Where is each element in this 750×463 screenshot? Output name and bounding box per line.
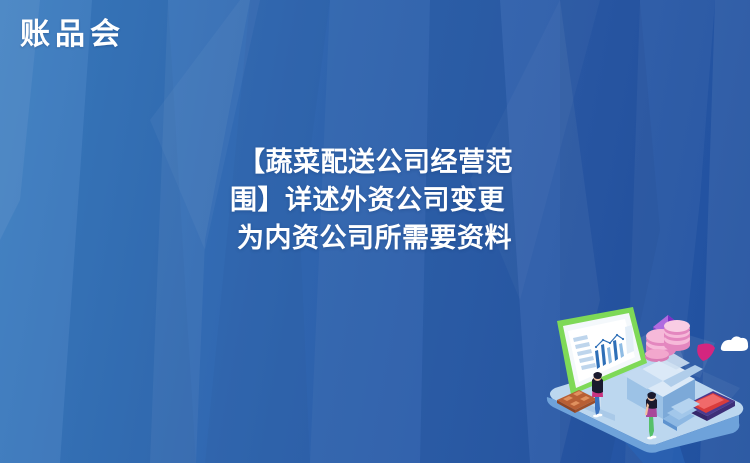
site-logo[interactable]: 账品会 bbox=[14, 18, 131, 52]
promo-banner: 账品会 【蔬菜配送公司经营范 围】详述外资公司变更 为内资公司所需要资料 bbox=[0, 0, 750, 463]
headline-line-3: 为内资公司所需要资料 bbox=[237, 219, 528, 257]
headline-line-2: 围】详述外资公司变更 bbox=[230, 181, 528, 219]
business-illustration bbox=[535, 303, 750, 463]
cloud-icon bbox=[721, 336, 748, 351]
headline-line-1: 【蔬菜配送公司经营范 bbox=[238, 143, 528, 181]
banner-headline: 【蔬菜配送公司经营范 围】详述外资公司变更 为内资公司所需要资料 bbox=[238, 143, 528, 257]
logo-text: 账品会 bbox=[20, 20, 125, 50]
